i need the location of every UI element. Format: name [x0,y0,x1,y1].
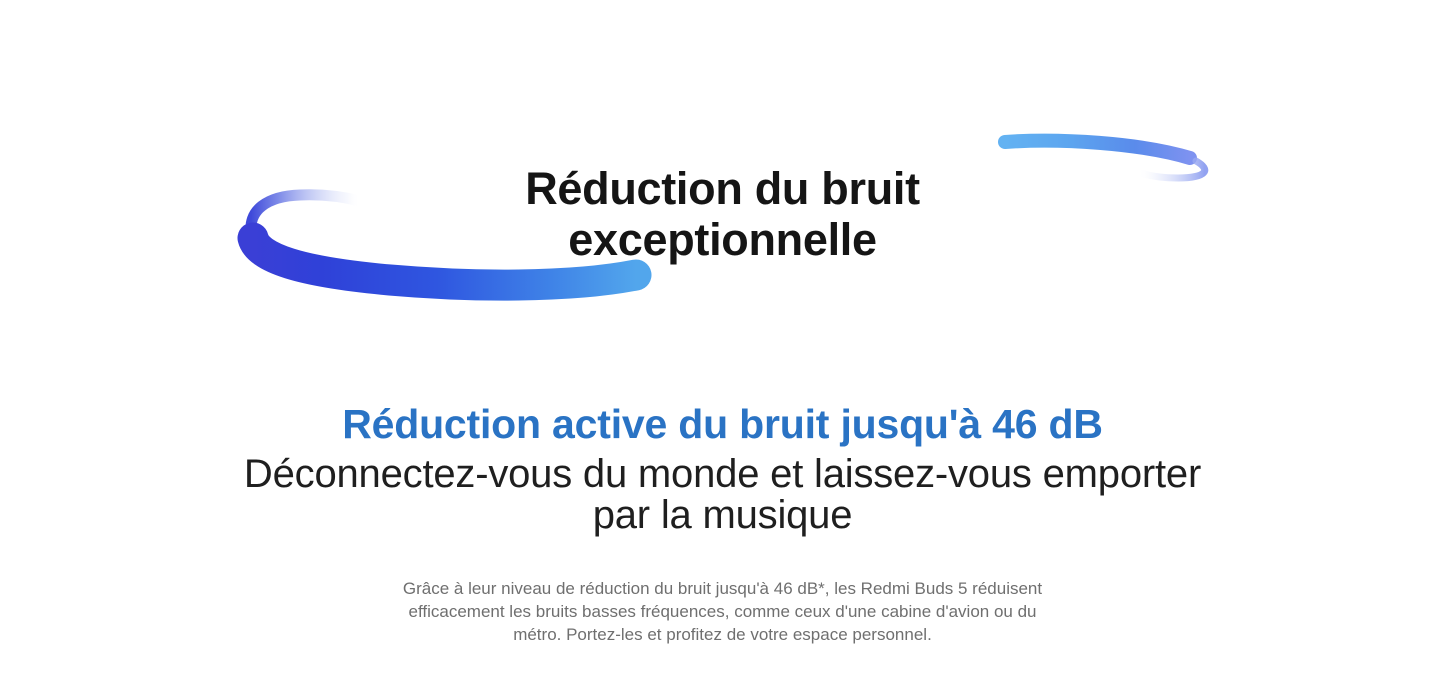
feature-copy-block: Réduction active du bruit jusqu'à 46 dB … [0,404,1445,536]
page-title-line-1: Réduction du bruit [0,166,1445,211]
feature-subheadline-line-2: par la musique [0,495,1445,536]
feature-accent-headline: Réduction active du bruit jusqu'à 46 dB [0,404,1445,445]
page-title: Réduction du bruit exceptionnelle [0,166,1445,262]
feature-subheadline: Déconnectez-vous du monde et laissez-vou… [0,454,1445,536]
feature-description: Grâce à leur niveau de réduction du brui… [393,577,1053,646]
feature-description-line-2: efficacement les bruits basses fréquence… [393,600,1053,623]
feature-description-line-1: Grâce à leur niveau de réduction du brui… [393,577,1053,600]
feature-subheadline-line-1: Déconnectez-vous du monde et laissez-vou… [0,454,1445,495]
page-title-line-2: exceptionnelle [0,217,1445,262]
hero-section: Réduction du bruit exceptionnelle Réduct… [0,0,1445,688]
feature-description-line-3: métro. Portez-les et profitez de votre e… [393,623,1053,646]
